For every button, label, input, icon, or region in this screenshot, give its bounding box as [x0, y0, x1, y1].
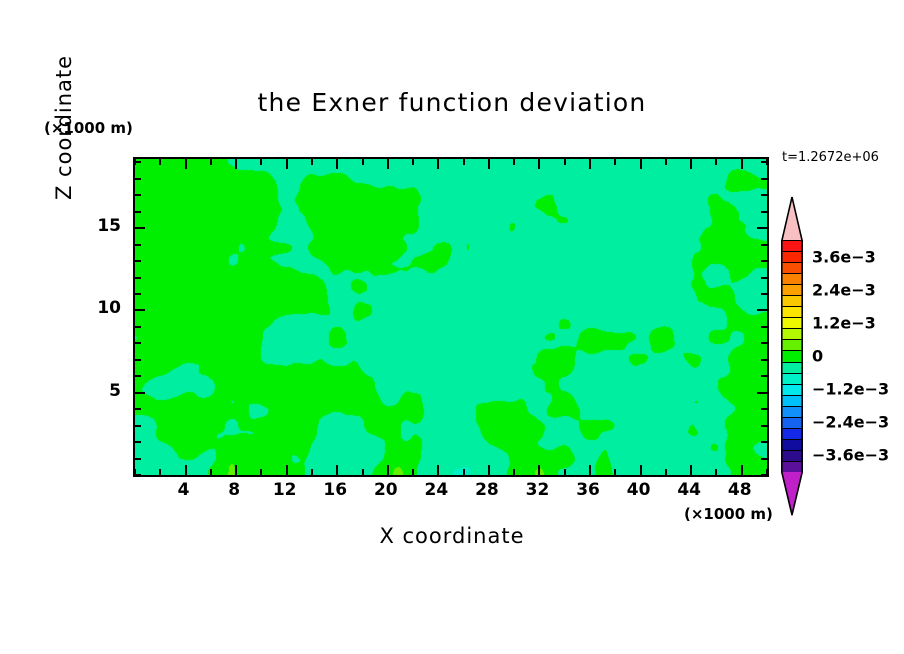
- y-tick-9: [135, 326, 141, 328]
- x-tick-6: [210, 469, 212, 475]
- colorbar-label-5: −2.4e−3: [812, 413, 889, 432]
- colorbar-label-1: 2.4e−3: [812, 280, 876, 299]
- y-tick-14: [135, 244, 141, 246]
- x-tick-label-12: 12: [273, 480, 297, 500]
- y-tick-right-9: [761, 326, 767, 328]
- x-tick-32: [538, 465, 540, 475]
- colorbar-segment-13: [782, 385, 802, 396]
- x-tick-top-12: [286, 159, 288, 169]
- x-tick-top-32: [538, 159, 540, 169]
- colorbar-segment-17: [782, 429, 802, 440]
- x-tick-top-18: [362, 159, 364, 165]
- y-tick-10: [135, 309, 145, 311]
- colorbar-segment-7: [782, 318, 802, 329]
- x-tick-label-16: 16: [323, 480, 347, 500]
- x-tick-top-42: [665, 159, 667, 165]
- x-tick-label-40: 40: [627, 480, 651, 500]
- colorbar-label-6: −3.6e−3: [812, 446, 889, 465]
- y-tick-right-5: [757, 392, 767, 394]
- y-tick-right-6: [761, 375, 767, 377]
- y-tick-label-5: 5: [109, 381, 121, 401]
- y-tick-right-17: [761, 194, 767, 196]
- x-tick-label-36: 36: [576, 480, 600, 500]
- y-tick-right-7: [761, 359, 767, 361]
- x-tick-22: [412, 469, 414, 475]
- colorbar: [781, 196, 803, 516]
- x-tick-top-2: [159, 159, 161, 165]
- y-tick-0: [135, 474, 141, 476]
- colorbar-segment-12: [782, 374, 802, 385]
- colorbar-segment-3: [782, 274, 802, 285]
- x-tick-26: [463, 469, 465, 475]
- x-tick-label-8: 8: [228, 480, 240, 500]
- y-tick-right-10: [757, 309, 767, 311]
- x-tick-top-22: [412, 159, 414, 165]
- page-title: the Exner function deviation: [0, 88, 904, 117]
- x-tick-top-4: [185, 159, 187, 169]
- y-tick-right-18: [761, 178, 767, 180]
- colorbar-segment-4: [782, 285, 802, 296]
- x-tick-top-26: [463, 159, 465, 165]
- y-tick-6: [135, 375, 141, 377]
- x-tick-top-30: [513, 159, 515, 165]
- y-tick-2: [135, 441, 141, 443]
- colorbar-segment-0: [782, 241, 802, 252]
- y-tick-right-16: [761, 211, 767, 213]
- y-tick-right-15: [757, 227, 767, 229]
- y-tick-16: [135, 211, 141, 213]
- colorbar-segment-15: [782, 407, 802, 418]
- x-tick-44: [690, 465, 692, 475]
- x-tick-top-44: [690, 159, 692, 169]
- x-tick-40: [640, 465, 642, 475]
- y-tick-right-14: [761, 244, 767, 246]
- colorbar-segment-10: [782, 351, 802, 362]
- x-tick-18: [362, 469, 364, 475]
- x-tick-30: [513, 469, 515, 475]
- y-tick-13: [135, 260, 141, 262]
- colorbar-segment-9: [782, 340, 802, 351]
- y-tick-7: [135, 359, 141, 361]
- y-tick-right-0: [761, 474, 767, 476]
- y-tick-right-8: [761, 342, 767, 344]
- y-tick-right-13: [761, 260, 767, 262]
- colorbar-segment-11: [782, 363, 802, 374]
- x-tick-top-48: [741, 159, 743, 169]
- y-tick-19: [135, 161, 141, 163]
- x-tick-top-24: [437, 159, 439, 169]
- y-tick-right-4: [761, 408, 767, 410]
- contour-field: [135, 159, 767, 475]
- colorbar-segment-6: [782, 307, 802, 318]
- x-tick-48: [741, 465, 743, 475]
- x-tick-label-32: 32: [526, 480, 550, 500]
- x-tick-top-20: [387, 159, 389, 169]
- x-tick-label-48: 48: [728, 480, 752, 500]
- x-tick-14: [311, 469, 313, 475]
- x-tick-16: [336, 465, 338, 475]
- x-tick-top-6: [210, 159, 212, 165]
- colorbar-segment-5: [782, 296, 802, 307]
- x-tick-34: [564, 469, 566, 475]
- x-tick-8: [235, 465, 237, 475]
- x-tick-top-8: [235, 159, 237, 169]
- x-tick-label-20: 20: [374, 480, 398, 500]
- y-tick-right-1: [761, 458, 767, 460]
- colorbar-segment-2: [782, 263, 802, 274]
- colorbar-segment-19: [782, 451, 802, 462]
- x-axis-title: X coordinate: [0, 524, 904, 548]
- y-tick-5: [135, 392, 145, 394]
- y-tick-right-2: [761, 441, 767, 443]
- y-tick-label-15: 15: [97, 216, 121, 236]
- colorbar-segments: [781, 240, 803, 472]
- y-tick-right-11: [761, 293, 767, 295]
- y-tick-12: [135, 277, 141, 279]
- x-tick-top-16: [336, 159, 338, 169]
- x-tick-top-34: [564, 159, 566, 165]
- colorbar-label-3: 0: [812, 347, 823, 366]
- colorbar-under-cap: [781, 472, 803, 517]
- x-tick-12: [286, 465, 288, 475]
- x-tick-top-14: [311, 159, 313, 165]
- x-tick-label-4: 4: [178, 480, 190, 500]
- x-tick-28: [488, 465, 490, 475]
- x-tick-24: [437, 465, 439, 475]
- y-axis-title: Z coordinate: [52, 55, 76, 200]
- colorbar-segment-14: [782, 396, 802, 407]
- colorbar-label-2: 1.2e−3: [812, 313, 876, 332]
- colorbar-segment-1: [782, 252, 802, 263]
- y-tick-15: [135, 227, 145, 229]
- x-tick-10: [260, 469, 262, 475]
- y-tick-3: [135, 425, 141, 427]
- y-tick-18: [135, 178, 141, 180]
- colorbar-segment-18: [782, 440, 802, 451]
- x-tick-20: [387, 465, 389, 475]
- x-tick-4: [185, 465, 187, 475]
- y-tick-label-10: 10: [97, 298, 121, 318]
- y-tick-4: [135, 408, 141, 410]
- colorbar-segment-8: [782, 329, 802, 340]
- x-tick-label-44: 44: [677, 480, 701, 500]
- y-tick-11: [135, 293, 141, 295]
- y-tick-right-19: [761, 161, 767, 163]
- y-tick-right-12: [761, 277, 767, 279]
- x-axis-unit-label: (×1000 m): [684, 505, 773, 523]
- x-tick-46: [715, 469, 717, 475]
- colorbar-over-cap: [781, 196, 803, 241]
- x-tick-label-24: 24: [425, 480, 449, 500]
- contour-plot-area: [133, 157, 769, 477]
- y-tick-17: [135, 194, 141, 196]
- colorbar-segment-16: [782, 418, 802, 429]
- x-tick-2: [159, 469, 161, 475]
- x-tick-36: [589, 465, 591, 475]
- colorbar-label-4: −1.2e−3: [812, 380, 889, 399]
- y-tick-1: [135, 458, 141, 460]
- y-tick-8: [135, 342, 141, 344]
- x-tick-top-38: [614, 159, 616, 165]
- time-annotation: t=1.2672e+06: [782, 150, 879, 165]
- x-tick-top-10: [260, 159, 262, 165]
- x-tick-42: [665, 469, 667, 475]
- x-tick-label-28: 28: [475, 480, 499, 500]
- colorbar-label-0: 3.6e−3: [812, 247, 876, 266]
- x-tick-top-36: [589, 159, 591, 169]
- x-tick-top-46: [715, 159, 717, 165]
- y-tick-right-3: [761, 425, 767, 427]
- x-tick-38: [614, 469, 616, 475]
- x-tick-top-40: [640, 159, 642, 169]
- x-tick-top-28: [488, 159, 490, 169]
